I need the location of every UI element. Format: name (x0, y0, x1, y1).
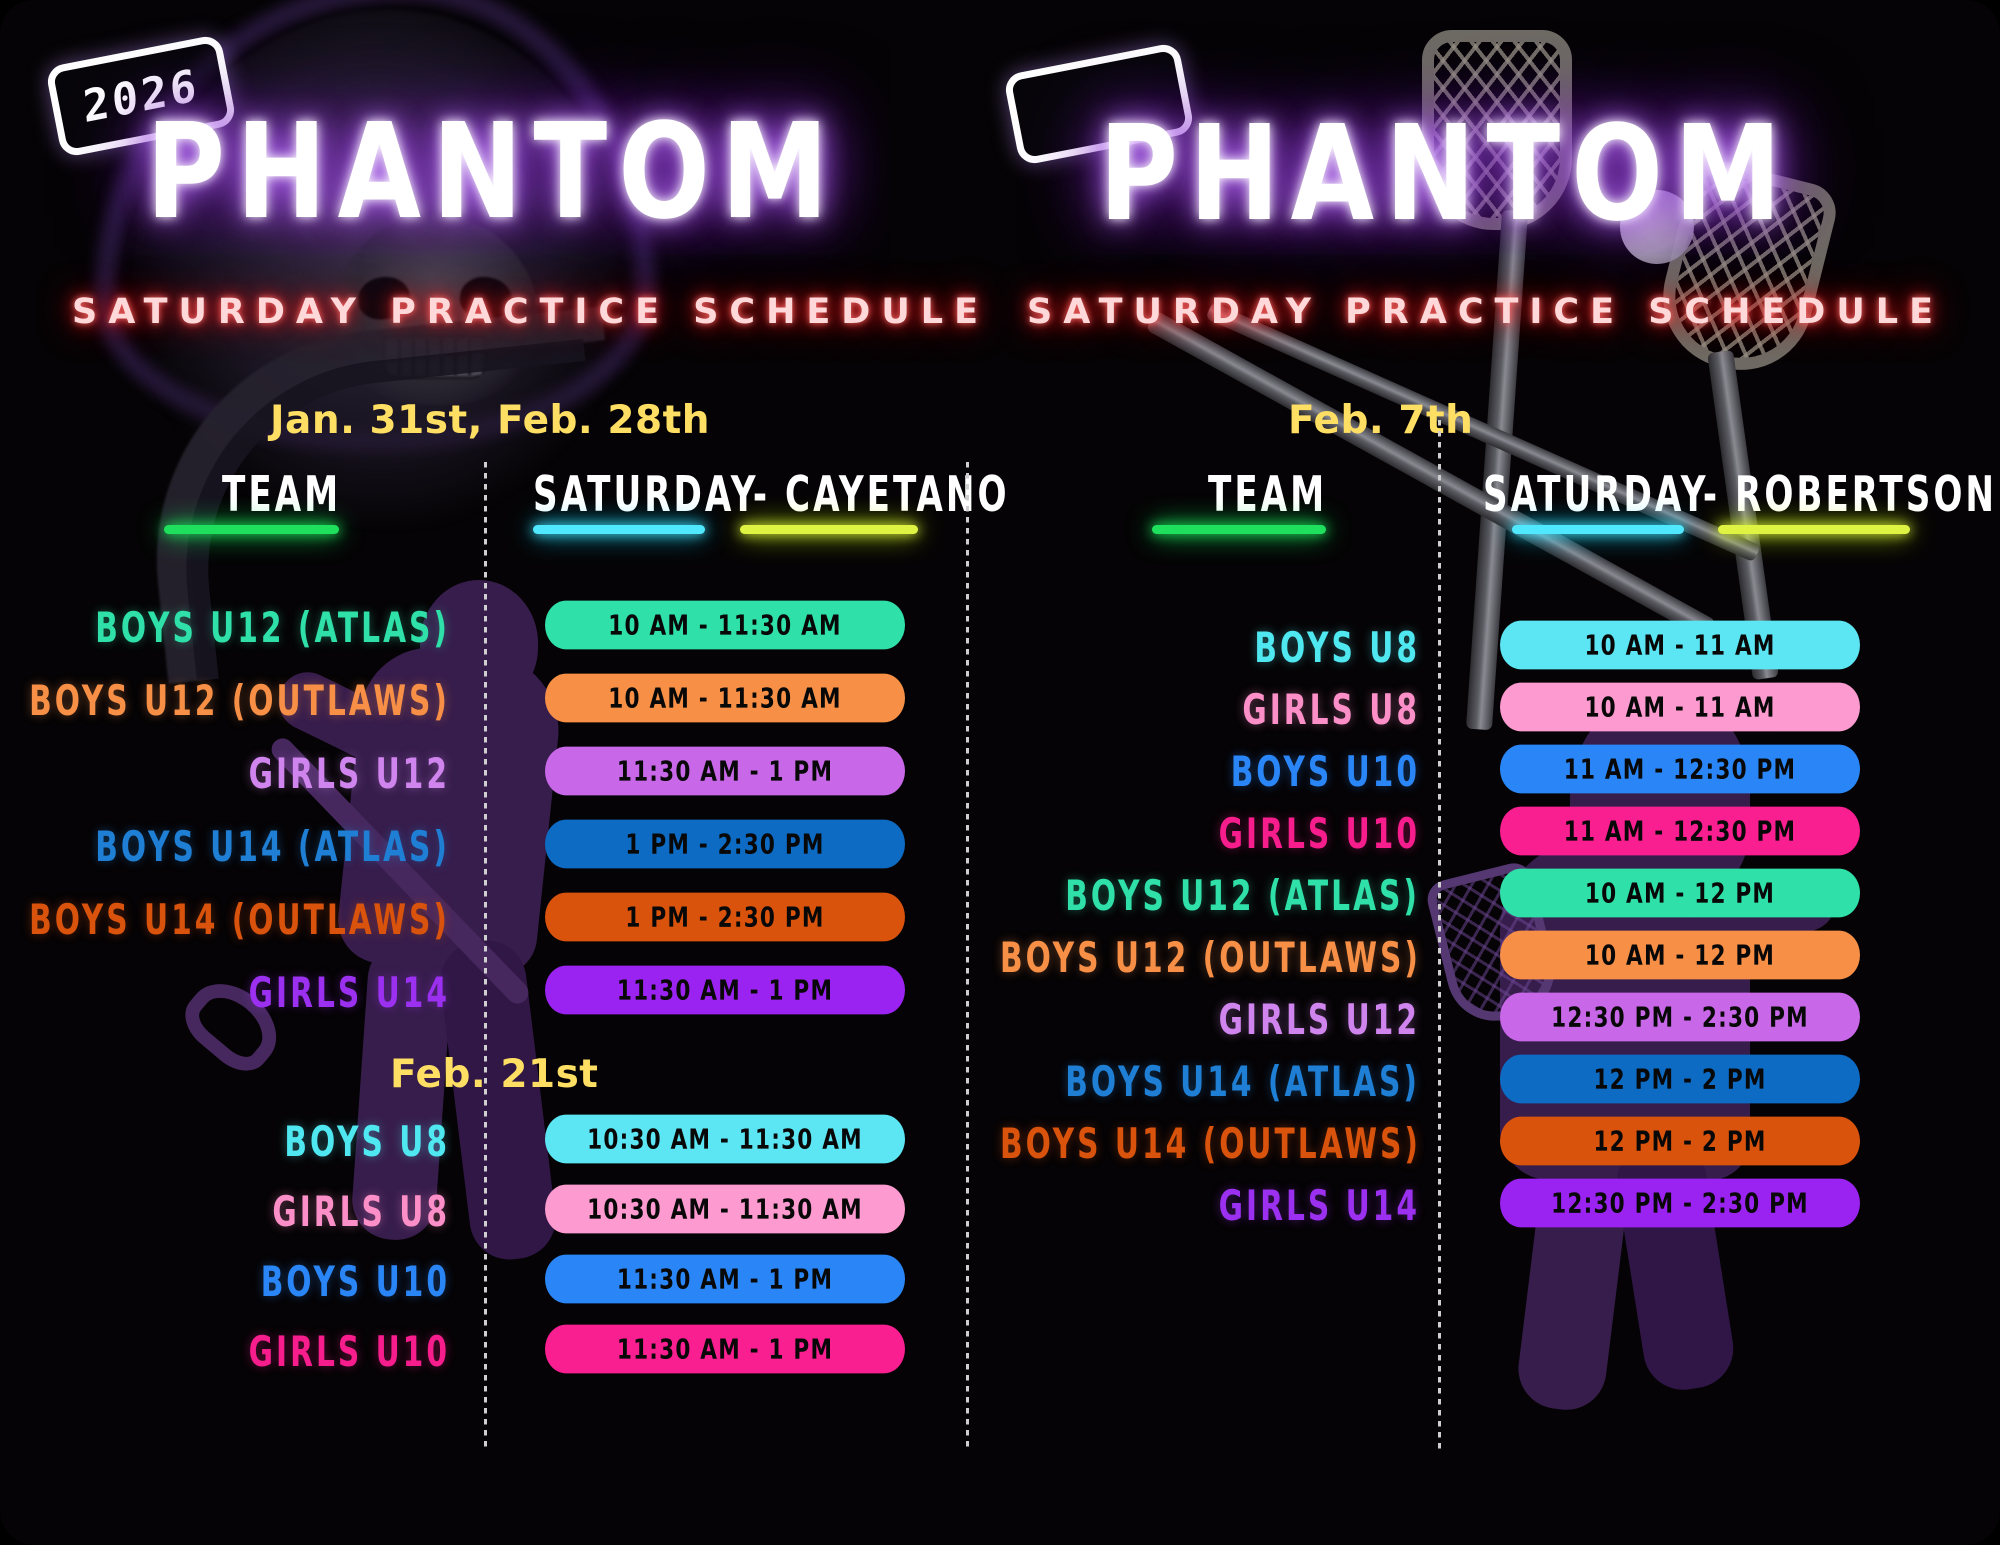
team-label: BOYS U8 (20, 1117, 450, 1167)
team-label: BOYS U14 (ATLAS) (1000, 1057, 1420, 1107)
schedule-time-pill: 10 AM - 12 PM (1500, 869, 1860, 918)
team-label: GIRLS U8 (1000, 685, 1420, 735)
schedule-time-pill: 10:30 AM - 11:30 AM (545, 1185, 905, 1234)
schedule-time-pill: 11 AM - 12:30 PM (1500, 745, 1860, 794)
team-label: GIRLS U10 (1000, 809, 1420, 859)
schedule-time-pill: 1 PM - 2:30 PM (545, 893, 905, 942)
team-label: BOYS U14 (OUTLAWS) (1000, 1119, 1420, 1169)
schedule-time-pill: 12 PM - 2 PM (1500, 1055, 1860, 1104)
schedule-time-pill: 10 AM - 12 PM (1500, 931, 1860, 980)
schedule-time-pill: 11:30 AM - 1 PM (545, 747, 905, 796)
left-panel: 2026 PHANTOM SATURDAY PRACTICE SCHEDULE … (0, 0, 1000, 1545)
column-header-schedule-underline-lime-right (1718, 525, 1910, 534)
team-label: GIRLS U10 (20, 1327, 450, 1377)
column-header-team-right: TEAM (1208, 465, 1327, 522)
schedule-time-pill: 12:30 PM - 2:30 PM (1500, 1179, 1860, 1228)
column-divider-right-1 (966, 462, 969, 1452)
column-header-team-underline-left (164, 525, 339, 534)
team-label: GIRLS U12 (20, 749, 450, 799)
team-label: BOYS U10 (20, 1257, 450, 1307)
team-label: BOYS U10 (1000, 747, 1420, 797)
team-label: GIRLS U8 (20, 1187, 450, 1237)
schedule-time-pill: 12 PM - 2 PM (1500, 1117, 1860, 1166)
team-label: BOYS U14 (OUTLAWS) (20, 895, 450, 945)
subtitle-right: SATURDAY PRACTICE SCHEDULE (1027, 292, 1944, 332)
date-heading-right: Feb. 7th (1288, 398, 1473, 443)
column-header-team-left: TEAM (222, 465, 341, 522)
schedule-time-pill: 11:30 AM - 1 PM (545, 1255, 905, 1304)
column-header-schedule-underline-lime-left (740, 525, 918, 534)
brand-title-right: PHANTOM (1099, 98, 1792, 251)
right-panel: PHANTOM SATURDAY PRACTICE SCHEDULE Feb. … (1000, 0, 2000, 1545)
schedule-time-pill: 10 AM - 11 AM (1500, 683, 1860, 732)
subtitle-left: SATURDAY PRACTICE SCHEDULE (72, 292, 989, 332)
team-label: BOYS U8 (1000, 623, 1420, 673)
team-label: GIRLS U14 (1000, 1181, 1420, 1231)
team-label: BOYS U12 (OUTLAWS) (20, 676, 450, 726)
schedule-time-pill: 10 AM - 11:30 AM (545, 601, 905, 650)
schedule-time-pill: 1 PM - 2:30 PM (545, 820, 905, 869)
schedule-time-pill: 11:30 AM - 1 PM (545, 1325, 905, 1374)
column-header-schedule-underline-cyan-right (1512, 525, 1684, 534)
team-label: GIRLS U14 (20, 968, 450, 1018)
column-header-schedule-underline-cyan-left (533, 525, 705, 534)
schedule-time-pill: 10 AM - 11:30 AM (545, 674, 905, 723)
team-label: BOYS U12 (ATLAS) (20, 603, 450, 653)
team-label: BOYS U12 (OUTLAWS) (1000, 933, 1420, 983)
column-header-team-underline-right (1152, 525, 1326, 534)
team-label: GIRLS U12 (1000, 995, 1420, 1045)
schedule-poster: 2026 PHANTOM SATURDAY PRACTICE SCHEDULE … (0, 0, 2000, 1545)
brand-title-left: PHANTOM (146, 96, 839, 249)
schedule-time-pill: 10 AM - 11 AM (1500, 621, 1860, 670)
column-divider-left (484, 462, 487, 1452)
column-header-schedule-left: SATURDAY- CAYETANO (533, 465, 1010, 522)
date-heading-left-1: Jan. 31st, Feb. 28th (270, 398, 710, 443)
schedule-time-pill: 11:30 AM - 1 PM (545, 966, 905, 1015)
schedule-time-pill: 10:30 AM - 11:30 AM (545, 1115, 905, 1164)
column-divider-right-2 (1438, 420, 1441, 1450)
team-label: BOYS U14 (ATLAS) (20, 822, 450, 872)
column-header-schedule-right: SATURDAY- ROBERTSON (1483, 465, 1997, 522)
schedule-time-pill: 12:30 PM - 2:30 PM (1500, 993, 1860, 1042)
schedule-time-pill: 11 AM - 12:30 PM (1500, 807, 1860, 856)
date-heading-left-2: Feb. 21st (390, 1052, 598, 1097)
team-label: BOYS U12 (ATLAS) (1000, 871, 1420, 921)
